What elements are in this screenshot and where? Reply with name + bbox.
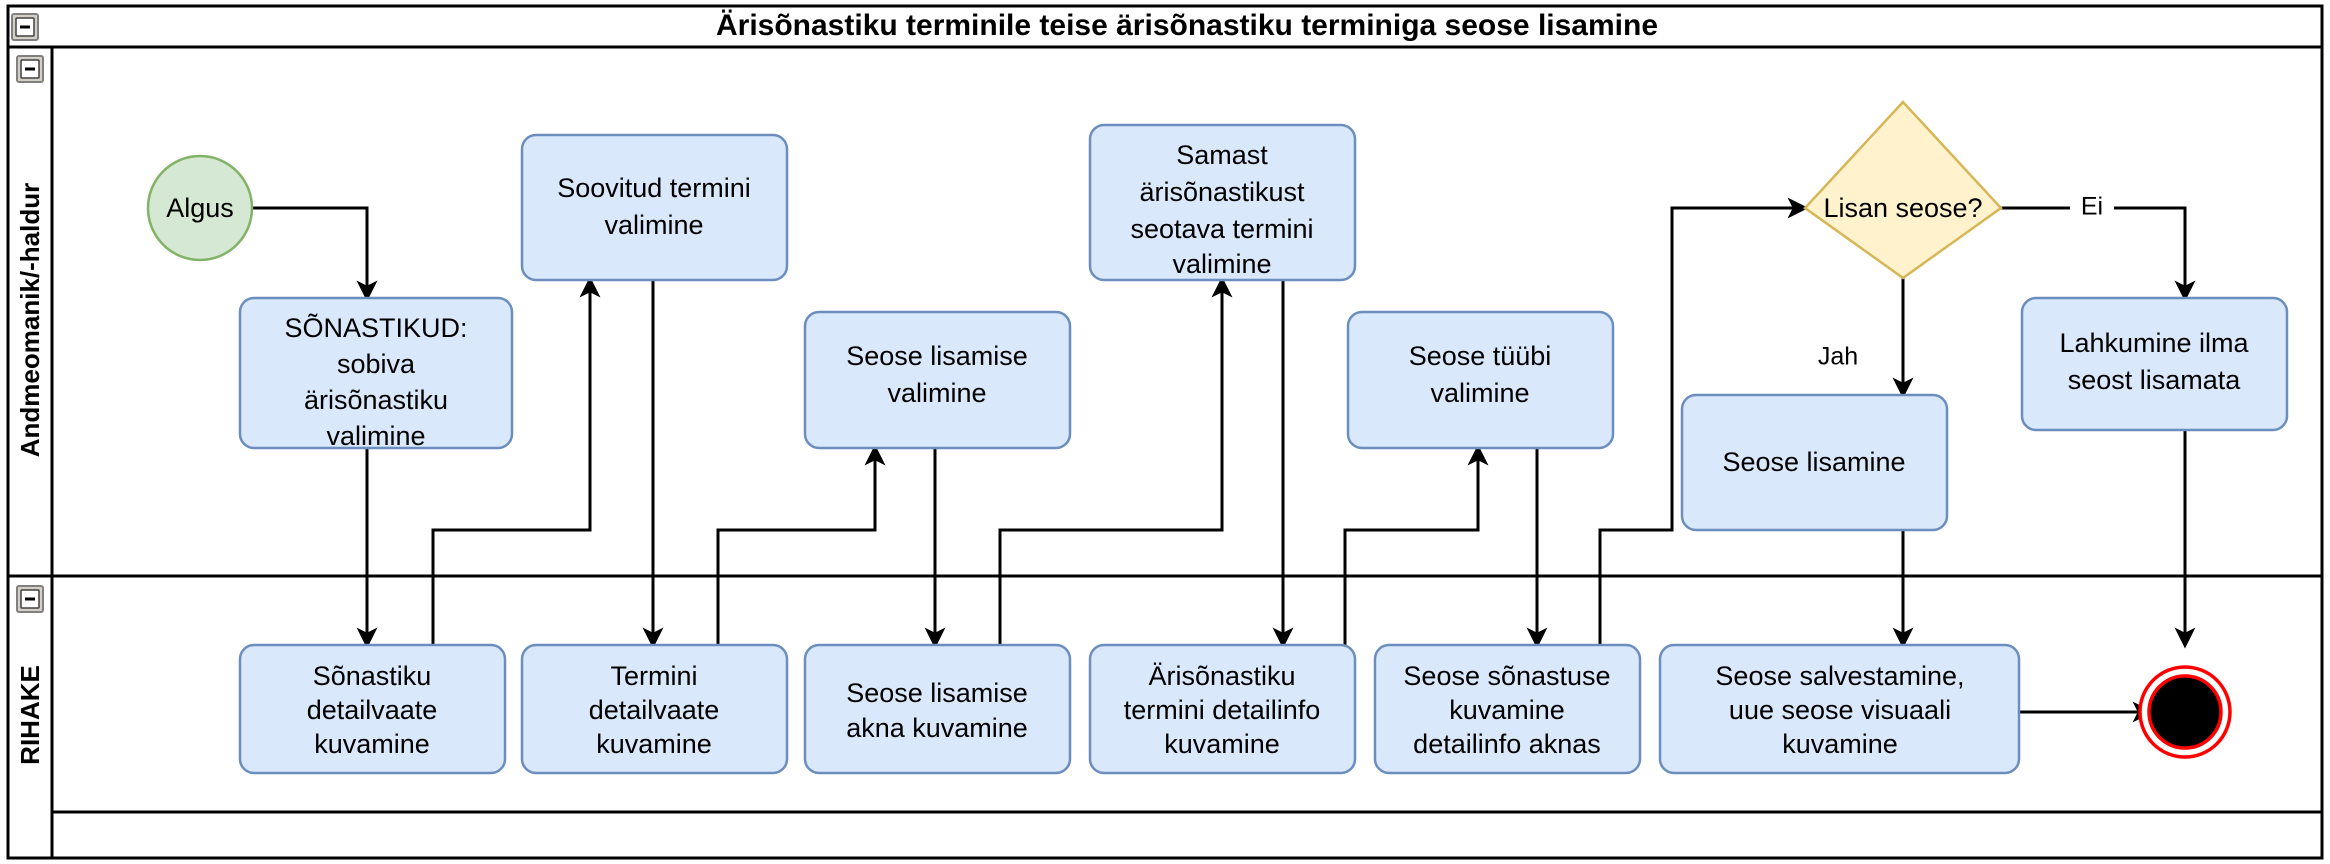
node-a1-line-2: sobiva xyxy=(337,349,416,379)
diagram-canvas: Ärisõnastiku terminile teise ärisõnastik… xyxy=(0,0,2330,864)
node-b2-line-2: detailvaate xyxy=(589,695,720,725)
node-b2-line-1: Termini xyxy=(610,661,697,691)
node-activity-seose-lisamise-valimine[interactable]: Seose lisamise valimine xyxy=(805,312,1070,448)
node-activity-sonastiku-detailvaate-kuvamine[interactable]: Sõnastiku detailvaate kuvamine xyxy=(240,645,505,773)
node-a4-line-1: Samast xyxy=(1176,140,1268,170)
node-decision-label: Lisan seose? xyxy=(1823,193,1982,223)
node-b1-line-1: Sõnastiku xyxy=(313,661,432,691)
node-a1-line-4: valimine xyxy=(326,421,425,451)
pool-collapse-button[interactable] xyxy=(12,14,38,40)
node-a3-line-1: Seose lisamise xyxy=(846,341,1028,371)
node-a4-line-4: valimine xyxy=(1172,249,1271,279)
node-activity-seose-tuubi-valimine[interactable]: Seose tüübi valimine xyxy=(1348,312,1613,448)
node-a2-line-2: valimine xyxy=(604,210,703,240)
lane-label-system: RIHAKE xyxy=(15,665,45,765)
node-end[interactable] xyxy=(2140,667,2230,757)
node-b4-line-1: Ärisõnastiku xyxy=(1148,661,1295,691)
lane-header-system: RIHAKE xyxy=(15,586,45,765)
node-a7-line-1: Lahkumine ilma xyxy=(2059,328,2249,358)
node-b5-line-1: Seose sõnastuse xyxy=(1403,661,1610,691)
node-activity-seose-lisamise-akna-kuvamine[interactable]: Seose lisamise akna kuvamine xyxy=(805,645,1070,773)
node-b3-line-2: akna kuvamine xyxy=(846,713,1028,743)
edge-label-ei: Ei xyxy=(2081,193,2103,221)
node-activity-seose-sonastuse-kuvamine-detailinfo-aknas[interactable]: Seose sõnastuse kuvamine detailinfo akna… xyxy=(1375,645,1640,773)
node-b6-line-1: Seose salvestamine, xyxy=(1715,661,1964,691)
node-activity-termini-detailvaate-kuvamine[interactable]: Termini detailvaate kuvamine xyxy=(522,645,787,773)
node-b5-line-3: detailinfo aknas xyxy=(1413,729,1601,759)
lane-collapse-button-actor[interactable] xyxy=(17,56,43,82)
node-activity-seose-salvestamine-visuaali-kuvamine[interactable]: Seose salvestamine, uue seose visuaali k… xyxy=(1660,645,2019,773)
node-b5-line-2: kuvamine xyxy=(1449,695,1565,725)
node-activity-sonastikud-valimine[interactable]: SÕNASTIKUD: sobiva ärisõnastiku valimine xyxy=(240,298,512,451)
node-activity-soovitud-termini-valimine[interactable]: Soovitud termini valimine xyxy=(522,135,787,280)
node-b3-line-1: Seose lisamise xyxy=(846,678,1028,708)
node-b4-line-3: kuvamine xyxy=(1164,729,1280,759)
node-b4-line-2: termini detailinfo xyxy=(1124,695,1321,725)
node-a2-line-1: Soovitud termini xyxy=(557,173,751,203)
node-start-algus[interactable]: Algus xyxy=(148,156,252,260)
node-a6-line-1: Seose lisamine xyxy=(1722,447,1905,477)
node-b2-line-3: kuvamine xyxy=(596,729,712,759)
node-a5-line-1: Seose tüübi xyxy=(1409,341,1552,371)
lane-label-actor: Andmeomanik/-haldur xyxy=(15,183,45,457)
node-start-label: Algus xyxy=(166,193,234,223)
lane-collapse-button-system[interactable] xyxy=(17,586,43,612)
node-a7-line-2: seost lisamata xyxy=(2068,365,2242,395)
pool-title: Ärisõnastiku terminile teise ärisõnastik… xyxy=(716,9,1658,42)
node-b1-line-2: detailvaate xyxy=(307,695,438,725)
node-b6-line-3: kuvamine xyxy=(1782,729,1898,759)
edge-label-jah: Jah xyxy=(1818,343,1858,371)
node-a4-line-3: seotava termini xyxy=(1130,214,1313,244)
node-a1-line-1: SÕNASTIKUD: xyxy=(284,312,467,343)
node-a5-line-2: valimine xyxy=(1430,378,1529,408)
node-b1-line-3: kuvamine xyxy=(314,729,430,759)
node-activity-samast-arisonastikust-termini-valimine[interactable]: Samast ärisõnastikust seotava termini va… xyxy=(1090,125,1355,280)
node-a1-line-3: ärisõnastiku xyxy=(304,385,448,415)
node-activity-seose-lisamine[interactable]: Seose lisamine xyxy=(1682,395,1947,530)
node-b6-line-2: uue seose visuaali xyxy=(1729,695,1951,725)
node-a4-line-2: ärisõnastikust xyxy=(1139,177,1305,207)
node-activity-arisonastiku-termini-detailinfo-kuvamine[interactable]: Ärisõnastiku termini detailinfo kuvamine xyxy=(1090,645,1355,773)
node-a3-line-2: valimine xyxy=(887,378,986,408)
activity-diagram-svg: Ärisõnastiku terminile teise ärisõnastik… xyxy=(0,0,2330,864)
node-activity-lahkumine-ilma-seost-lisamata[interactable]: Lahkumine ilma seost lisamata xyxy=(2022,298,2287,430)
